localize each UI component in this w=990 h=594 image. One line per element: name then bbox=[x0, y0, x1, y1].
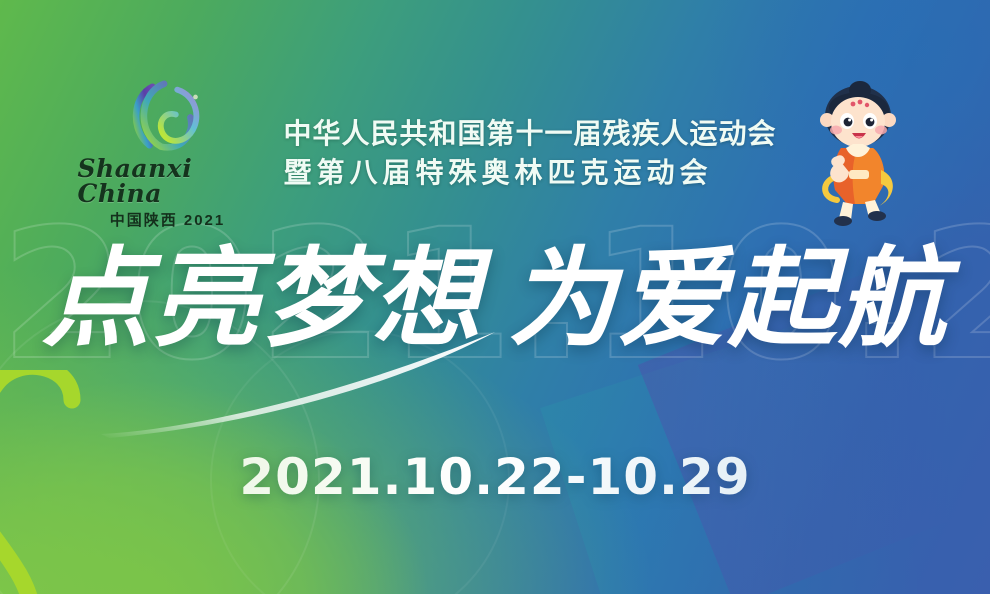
tuantuan-mascot-icon bbox=[803, 78, 913, 228]
slogan-part-1: 点亮梦想 bbox=[42, 237, 482, 362]
games-poster: 2021.10.22 bbox=[0, 0, 990, 594]
emblem-subtitle: 中国陕西 2021 bbox=[110, 213, 226, 228]
event-title-line-2: 暨第八届特殊奥林匹克运动会 bbox=[283, 156, 776, 189]
event-title-block: 中华人民共和国第十一届残疾人运动会 暨第八届特殊奥林匹克运动会 bbox=[283, 117, 776, 188]
slogan-part-2: 为爱起航 bbox=[508, 237, 948, 362]
games-emblem: Shaanxi China 中国陕西 2021 bbox=[77, 78, 257, 228]
event-title-line-1: 中华人民共和国第十一届残疾人运动会 bbox=[283, 117, 776, 150]
emblem-wordmark: Shaanxi China bbox=[77, 156, 257, 206]
shaanxi-games-swirl-logo-icon bbox=[113, 78, 221, 154]
poster-slogan: 点亮梦想为爱起航 bbox=[0, 246, 990, 354]
event-date: 2021.10.22-10.29 bbox=[0, 452, 990, 502]
poster-header: Shaanxi China 中国陕西 2021 中华人民共和国第十一届残疾人运动… bbox=[0, 78, 990, 228]
